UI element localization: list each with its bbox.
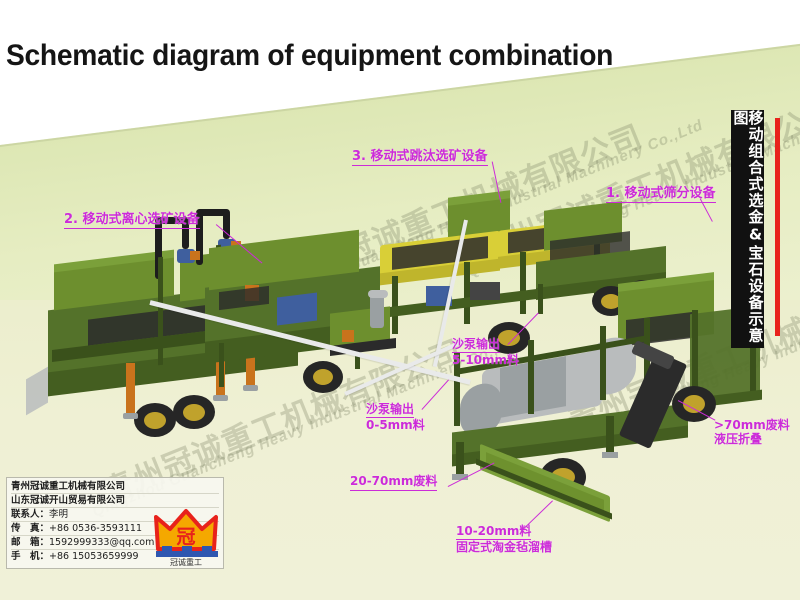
pump-motor-skid <box>342 330 354 342</box>
logo-block-2 <box>182 546 192 552</box>
callout-waste-20-70: 20-70mm废料 <box>350 472 437 491</box>
pump-column <box>370 294 384 328</box>
logo-block-1 <box>162 546 172 552</box>
leg-deck2-1 <box>219 343 224 387</box>
contact-value-fax: +86 0536-3593111 <box>49 523 142 534</box>
page-title: Schematic diagram of equipment combinati… <box>6 39 613 73</box>
vertical-title-text: 移动组合式选金&宝石设备示意图 <box>733 110 763 348</box>
jig-gearbox <box>470 282 500 300</box>
red-accent-bar <box>775 118 780 336</box>
callout-sandpump-0-5: 沙泵输出 0-5mm料 <box>366 402 425 432</box>
contact-label-fax: 传 真： <box>11 523 49 534</box>
callout-waste-70-fold: >70mm废料 液压折叠 <box>714 418 790 446</box>
outrigger-foot-1 <box>123 413 138 419</box>
outrigger-1 <box>126 363 135 415</box>
vertical-title-banner: 移动组合式选金&宝石设备示意图 <box>731 110 764 348</box>
callout-sluice-10-20: 10-20mm料 固定式淘金毡溜槽 <box>456 524 552 554</box>
contact-row-company-1: 青州冠诚重工机械有限公司 <box>11 480 219 494</box>
contact-value-mobile: +86 15053659999 <box>49 551 139 562</box>
gearbox-blue <box>277 293 317 326</box>
contact-label-person: 联系人： <box>11 509 49 520</box>
crown-logo: 冠 冠诚重工 <box>152 505 224 567</box>
trommel-outrigger-2 <box>606 416 614 456</box>
trommel-outrigger-foot-2 <box>602 452 618 458</box>
contact-label-email: 邮 箱： <box>11 537 49 548</box>
callout-3-jig: 3. 移动式跳汰选矿设备 <box>352 145 488 166</box>
crown-glyph: 冠 <box>176 526 195 548</box>
logo-caption: 冠诚重工 <box>170 557 202 567</box>
wheel-hub-1 <box>144 412 166 429</box>
contact-value-person: 李明 <box>49 509 68 520</box>
cage-post-3 <box>600 326 606 400</box>
pump-column-cap <box>368 290 388 298</box>
schematic-canvas: 青州冠诚重工机械有限公司 Qingzhou Guancheng Heavy In… <box>0 0 800 600</box>
access-ladder <box>26 367 48 416</box>
cage-post-2 <box>528 340 534 414</box>
contact-label-mobile: 手 机： <box>11 551 49 562</box>
company-name-2: 山东冠诚开山贸易有限公司 <box>11 495 125 506</box>
company-name-1: 青州冠诚重工机械有限公司 <box>11 481 125 492</box>
trommel-outrigger-1 <box>456 442 464 478</box>
callout-2-centrifugal: 2. 移动式离心选矿设备 <box>64 208 200 229</box>
support-column-a <box>158 257 163 366</box>
contact-value-email: 1592999333@qq.com <box>49 537 154 548</box>
logo-block-3 <box>202 546 212 552</box>
machine-pump-skid <box>330 290 440 380</box>
